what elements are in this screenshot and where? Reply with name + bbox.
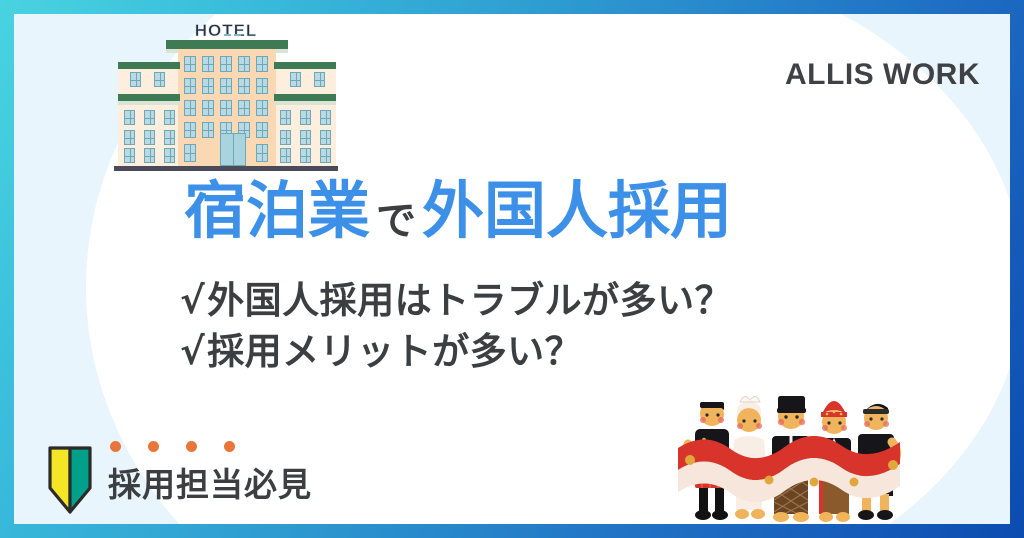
- check-icon: √: [180, 279, 207, 322]
- hotel-window: [144, 148, 155, 163]
- hand: [765, 476, 774, 485]
- hotel-window: [256, 144, 268, 162]
- hotel-window: [320, 148, 331, 163]
- hotel-window: [164, 148, 175, 163]
- hotel-door-handle: [234, 34, 241, 36]
- hotel-sign-text: HOTEL: [172, 20, 280, 42]
- hotel-window: [144, 110, 155, 125]
- title-part-hiring: 外国人採用: [422, 174, 732, 247]
- hotel-window: [130, 72, 141, 87]
- hotel-band-left-mid: [118, 94, 180, 101]
- hand: [810, 478, 819, 487]
- hand: [685, 455, 695, 465]
- hotel-window: [320, 110, 331, 125]
- hotel-window: [280, 148, 291, 163]
- brand-logo: ALLIS WORK: [785, 58, 980, 92]
- hotel-window: [280, 110, 291, 125]
- shoshinsha-mark-icon: [44, 444, 96, 516]
- title-particle: で: [370, 198, 422, 244]
- dot-icon: [224, 441, 235, 452]
- check-icon: √: [180, 330, 207, 373]
- hand: [888, 460, 898, 470]
- hotel-band-left-mid-trim: [118, 101, 180, 105]
- people-illustration: [674, 352, 904, 524]
- subtitle-text: 採用メリットが多い？: [207, 330, 582, 373]
- hotel-window: [290, 72, 301, 87]
- hotel-window: [314, 72, 325, 87]
- hand: [850, 478, 859, 487]
- hotel-window: [184, 144, 196, 162]
- dot-icon: [148, 441, 159, 452]
- hotel-window: [300, 148, 311, 163]
- hotel-window: [220, 78, 232, 94]
- dot-icon: [110, 441, 121, 452]
- dot-icon: [186, 441, 197, 452]
- hotel-window: [238, 78, 250, 94]
- hotel-roof-center: [166, 40, 288, 49]
- banner-root: HOTEL: [0, 0, 1024, 538]
- hotel-window: [124, 130, 135, 145]
- hotel-window: [202, 100, 214, 116]
- hotel-window: [220, 56, 232, 72]
- hotel-window: [184, 122, 196, 138]
- hotel-window: [124, 148, 135, 163]
- hotel-band-right-mid: [274, 94, 336, 101]
- hotel-window: [184, 100, 196, 116]
- hotel-window: [280, 130, 291, 145]
- hotel-entrance-door: [220, 133, 246, 166]
- hotel-window: [256, 100, 268, 116]
- hotel-door-handle: [224, 34, 231, 36]
- hotel-window: [164, 110, 175, 125]
- hotel-window: [124, 110, 135, 125]
- subtitle-line-1: √外国人採用はトラブルが多い？: [180, 276, 732, 327]
- hotel-window: [238, 100, 250, 116]
- decorative-dots: [110, 441, 250, 455]
- subtitle-text: 外国人採用はトラブルが多い？: [207, 279, 732, 322]
- banner-panel: HOTEL: [14, 14, 1010, 524]
- hotel-window: [300, 110, 311, 125]
- hotel-window: [184, 56, 196, 72]
- hotel-window: [154, 72, 165, 87]
- hotel-window: [202, 78, 214, 94]
- hotel-window: [320, 130, 331, 145]
- hotel-window: [184, 78, 196, 94]
- hotel-window: [238, 56, 250, 72]
- hotel-band-right-top: [274, 62, 336, 69]
- page-title: 宿泊業で外国人採用: [184, 180, 732, 242]
- hotel-illustration: HOTEL: [110, 18, 342, 178]
- hotel-window: [202, 122, 214, 138]
- hotel-band-left-top: [118, 62, 180, 69]
- hotel-window: [256, 56, 268, 72]
- hotel-window: [144, 130, 155, 145]
- badge-label: 採用担当必見: [108, 458, 312, 506]
- title-part-industry: 宿泊業: [184, 174, 370, 247]
- subtitle-line-2: √採用メリットが多い？: [180, 327, 732, 378]
- subtitle-list: √外国人採用はトラブルが多い？ √採用メリットが多い？: [180, 276, 732, 377]
- hotel-window: [256, 122, 268, 138]
- hotel-window: [164, 130, 175, 145]
- hotel-window: [202, 56, 214, 72]
- hotel-window: [256, 78, 268, 94]
- hotel-window: [220, 100, 232, 116]
- hotel-ground-line: [114, 166, 338, 171]
- hotel-window: [300, 130, 311, 145]
- hotel-band-right-mid-trim: [274, 101, 336, 105]
